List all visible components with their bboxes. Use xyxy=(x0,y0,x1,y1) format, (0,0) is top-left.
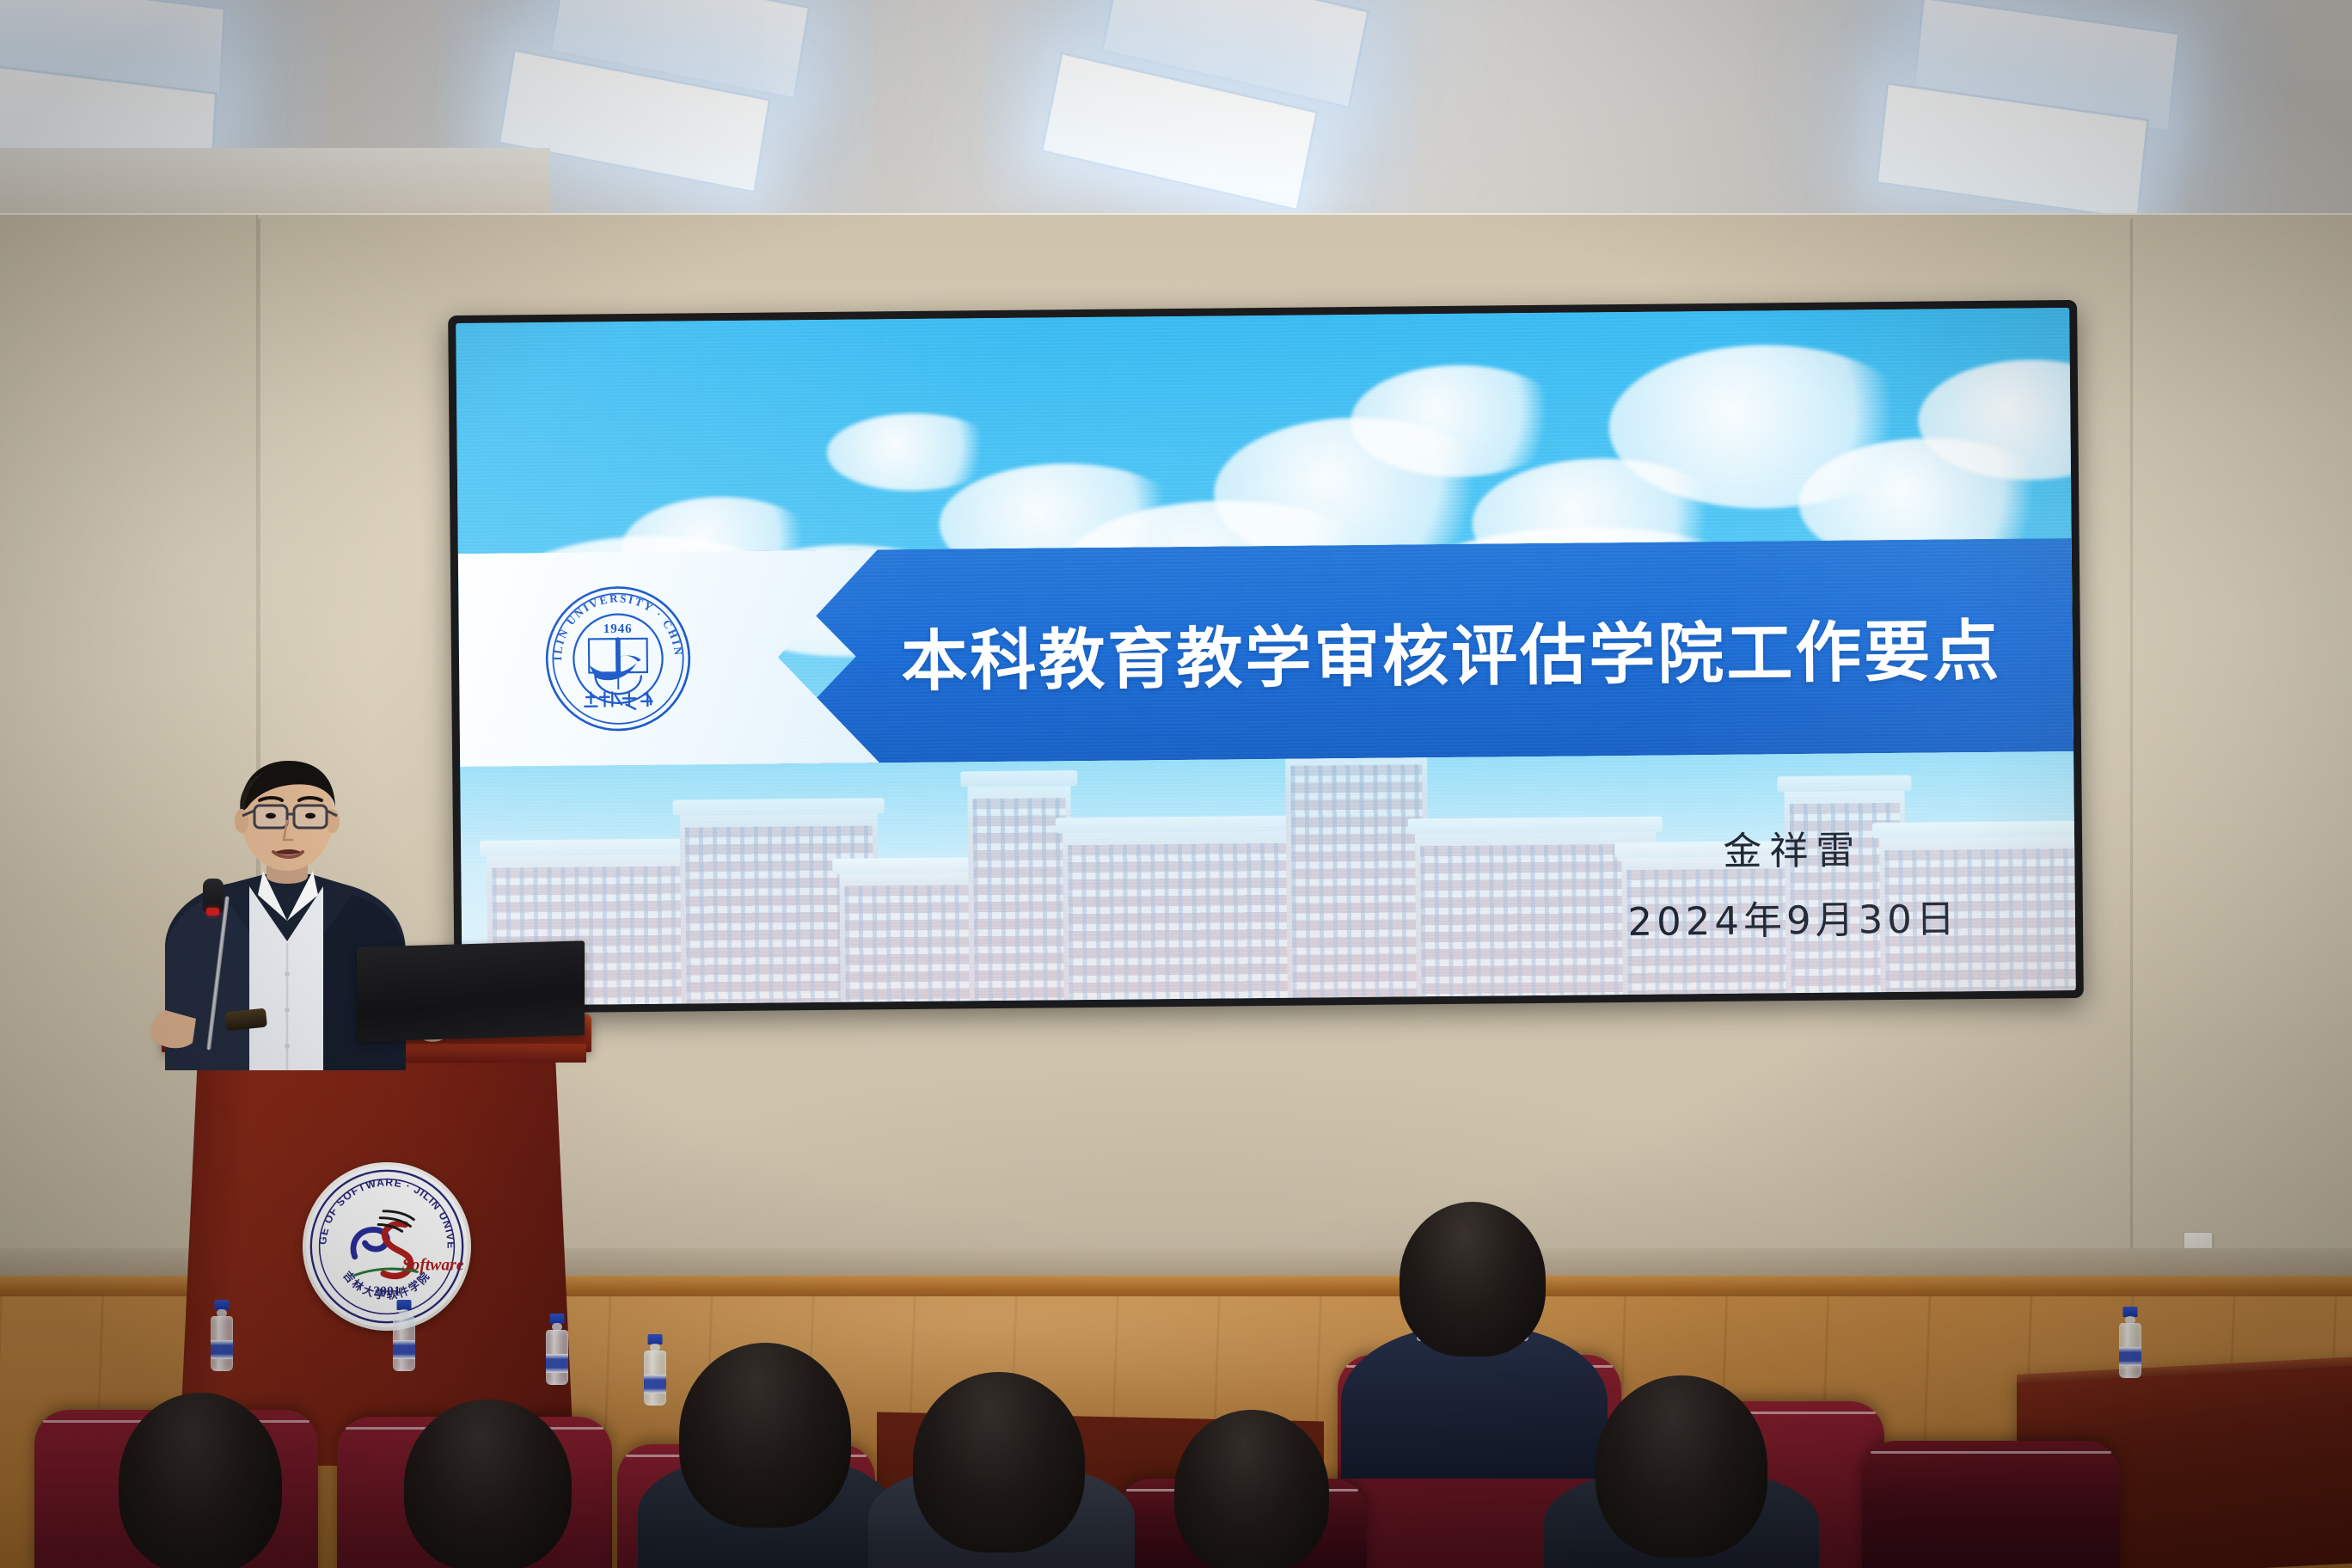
svg-text:2001: 2001 xyxy=(373,1284,401,1299)
attendee-head xyxy=(1596,1375,1767,1558)
slide-credit-block: 金祥雷 2024年9月30日 xyxy=(1626,818,1959,946)
university-seal-icon: JILIN UNIVERSITY · CHINA 1946 xyxy=(541,581,695,736)
attendee-head xyxy=(1400,1202,1546,1357)
attendee-head xyxy=(913,1372,1085,1553)
led-display-screen: JILIN UNIVERSITY · CHINA 1946 xyxy=(448,300,2084,1014)
slide-title: 本科教育教学审核评估学院工作要点 xyxy=(900,538,2041,763)
svg-text:1946: 1946 xyxy=(603,622,632,636)
building xyxy=(839,867,986,1002)
building xyxy=(1063,825,1322,1000)
laptop-brand-logo xyxy=(389,958,421,969)
lecture-hall-photo: JILIN UNIVERSITY · CHINA 1946 xyxy=(0,0,2352,1568)
microphone-indicator xyxy=(206,908,219,916)
building xyxy=(967,781,1072,1001)
building xyxy=(1285,747,1430,998)
slide-canvas: JILIN UNIVERSITY · CHINA 1946 xyxy=(456,308,2076,1006)
attendee-head xyxy=(119,1393,282,1568)
attendee-head xyxy=(404,1400,572,1568)
slide-presenter-name: 金祥雷 xyxy=(1626,818,1958,877)
attendee-head xyxy=(679,1343,851,1528)
auditorium-chair[interactable] xyxy=(1862,1441,2120,1568)
attendee-head xyxy=(1174,1410,1329,1568)
svg-text:Software: Software xyxy=(402,1256,464,1274)
slide-title-banner: JILIN UNIVERSITY · CHINA 1946 xyxy=(458,538,2073,767)
svg-text:JILIN UNIVERSITY · CHINA: JILIN UNIVERSITY · CHINA xyxy=(541,581,684,661)
slide-presenter-date: 2024年9月30日 xyxy=(1627,887,1959,946)
college-emblem-icon: COLLEGE OF SOFTWARE · JILIN UNIVERSITY 吉… xyxy=(303,1162,471,1331)
laptop-icon[interactable] xyxy=(357,940,585,1041)
